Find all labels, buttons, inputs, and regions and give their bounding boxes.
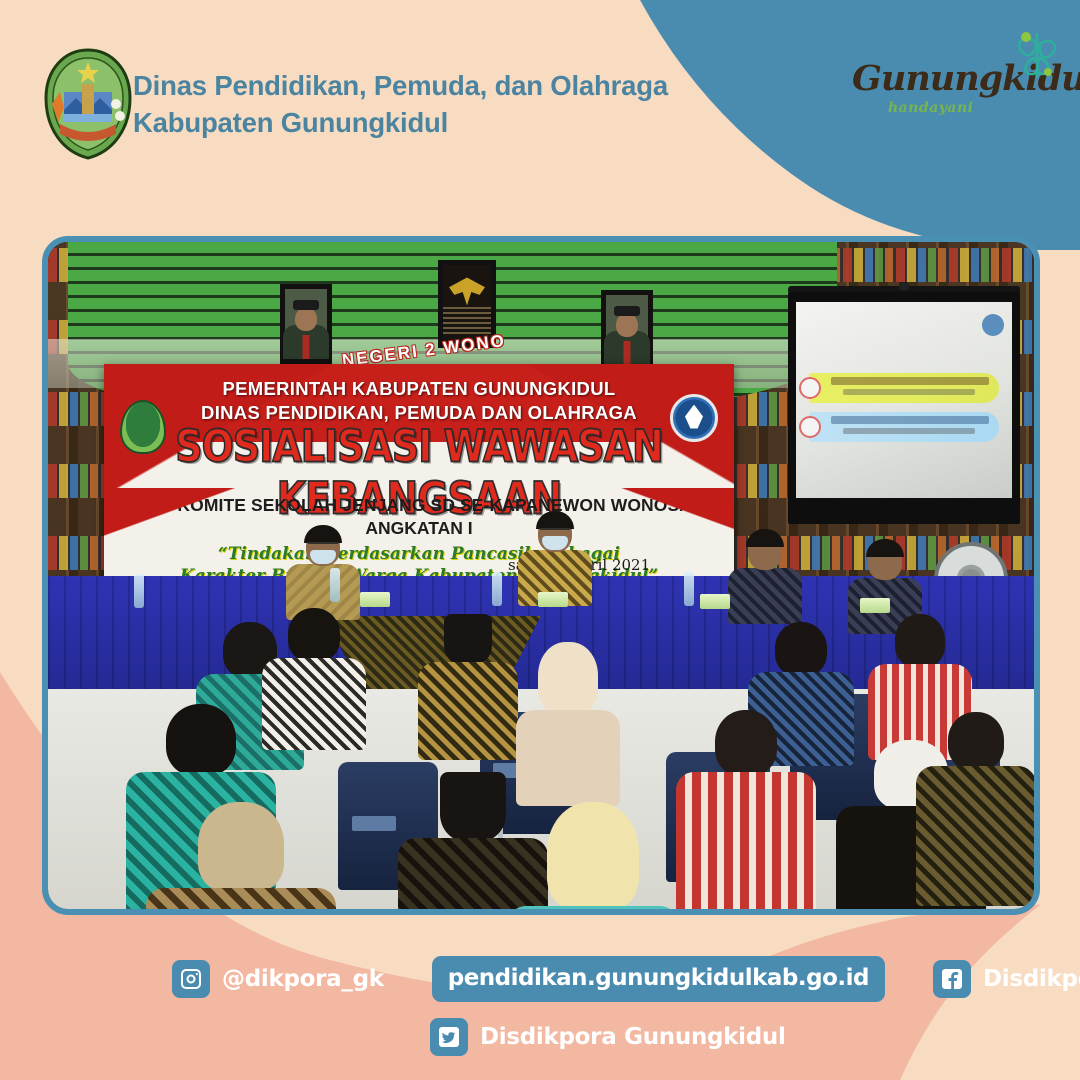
audience-member bbox=[418, 614, 518, 760]
slide-band-2 bbox=[809, 412, 999, 442]
audience-member bbox=[916, 712, 1036, 906]
gunungkidul-brand-logo: Gunungkidul handayani bbox=[852, 28, 1064, 124]
water-bottle bbox=[134, 574, 144, 608]
audience-member bbox=[508, 802, 678, 915]
website-url-pill[interactable]: pendidikan.gunungkidulkab.go.id bbox=[432, 956, 885, 1002]
page-header: Dinas Pendidikan, Pemuda, dan Olahraga K… bbox=[0, 0, 1080, 200]
brand-tagline: handayani bbox=[888, 100, 974, 116]
facebook-page-name[interactable]: Disdikpora Gunungkidul bbox=[983, 966, 1080, 992]
page-title: Dinas Pendidikan, Pemuda, dan Olahraga K… bbox=[133, 68, 668, 141]
banner-title: SOSIALISASI WAWASAN KEBANGSAAN bbox=[104, 420, 734, 524]
gunungkidul-regency-crest bbox=[42, 48, 134, 160]
water-bottle bbox=[492, 572, 502, 606]
slide-band-1 bbox=[809, 373, 999, 403]
audience-member bbox=[190, 912, 370, 915]
event-photo: NEGERI 2 WONO PEMERINTAH KABUPATEN GUNUN… bbox=[48, 242, 1034, 909]
vice-president-portrait bbox=[601, 290, 653, 370]
social-row-secondary: Disdikpora Gunungkidul bbox=[430, 1018, 786, 1056]
snack-box bbox=[360, 592, 390, 607]
seated-participant bbox=[728, 532, 802, 624]
instagram-icon[interactable] bbox=[172, 960, 210, 998]
slide-logo-icon bbox=[982, 314, 1004, 336]
banner-line-3: BAGI KOMITE SEKOLAH JENJANG SD SE-KAPANE… bbox=[104, 495, 734, 516]
social-media-footer: @dikpora_gk pendidikan.gunungkidulkab.go… bbox=[0, 930, 1080, 1080]
instagram-handle[interactable]: @dikpora_gk bbox=[222, 966, 384, 992]
dragonfly-flourish-icon bbox=[1006, 28, 1062, 84]
water-bottle bbox=[684, 572, 694, 606]
banner-line-1: PEMERINTAH KABUPATEN GUNUNGKIDUL bbox=[104, 378, 734, 400]
audience-member bbox=[146, 802, 336, 915]
projector-screen-surface bbox=[796, 302, 1012, 498]
twitter-icon[interactable] bbox=[430, 1018, 468, 1056]
banner-line-4: ANGKATAN I bbox=[104, 518, 734, 539]
snack-box bbox=[538, 592, 568, 607]
snack-box bbox=[860, 598, 890, 613]
water-bottle bbox=[330, 568, 340, 602]
social-row-primary: @dikpora_gk pendidikan.gunungkidulkab.go… bbox=[172, 956, 1080, 1002]
projector-screen-frame bbox=[788, 292, 1020, 524]
seated-official bbox=[286, 528, 360, 620]
audience-member bbox=[262, 608, 366, 750]
president-portrait bbox=[280, 284, 332, 364]
snack-box bbox=[700, 594, 730, 609]
facebook-icon[interactable] bbox=[933, 960, 971, 998]
event-photo-card: NEGERI 2 WONO PEMERINTAH KABUPATEN GUNUN… bbox=[42, 236, 1040, 915]
audience-member bbox=[676, 710, 816, 915]
twitter-account-name[interactable]: Disdikpora Gunungkidul bbox=[480, 1024, 786, 1050]
